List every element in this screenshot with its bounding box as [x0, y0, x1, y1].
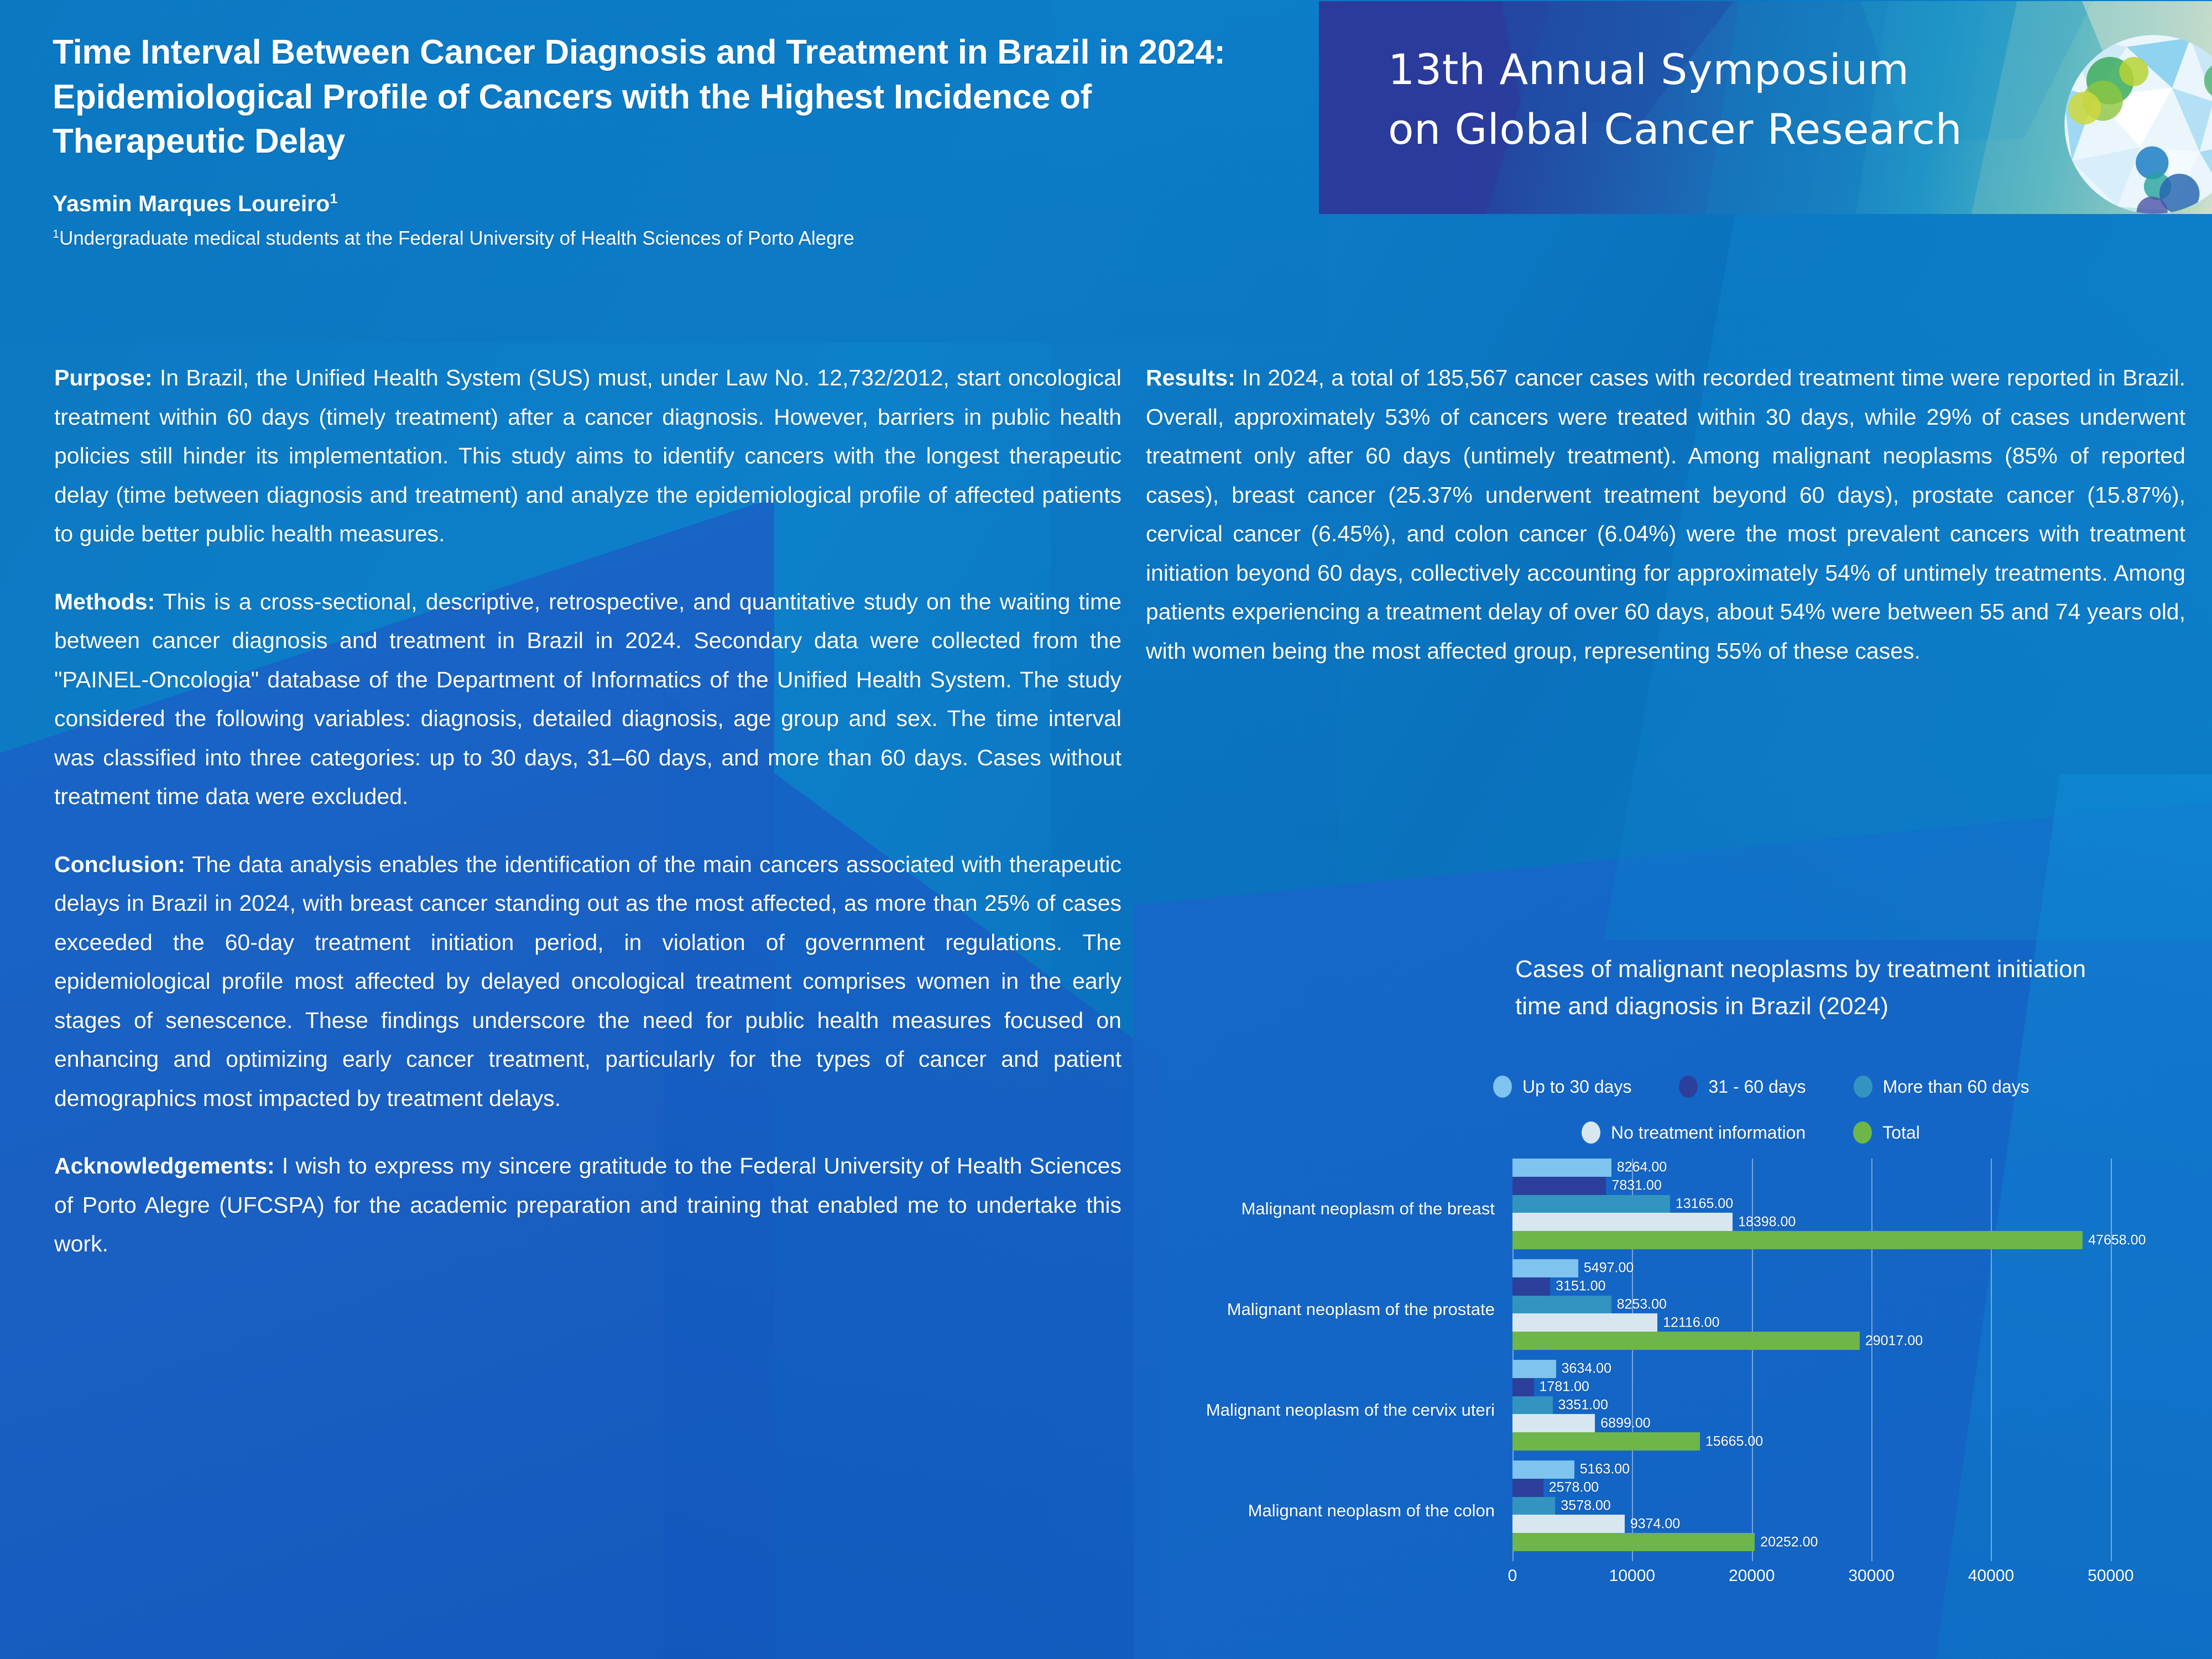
x-axis-tick-label: 0 [1508, 1567, 1517, 1585]
chart-bar[interactable] [1512, 1177, 1606, 1195]
chart-axes: 8264.007831.0013165.0018398.0047658.0054… [1512, 1159, 2171, 1561]
chart-bar-row: 15665.00 [1512, 1432, 2171, 1451]
chart-bar-row: 8253.00 [1512, 1296, 2171, 1314]
chart-category-label: Malignant neoplasm of the cervix uteri [1206, 1400, 1495, 1420]
legend-label: 31 - 60 days [1708, 1077, 1806, 1097]
chart-bar-value-label: 8264.00 [1617, 1160, 1667, 1176]
x-axis-tick-label: 10000 [1609, 1567, 1655, 1585]
results-body: In 2024, a total of 185,567 cancer cases… [1146, 365, 2185, 664]
affiliation-superscript: 1 [53, 227, 59, 241]
title-block: Time Interval Between Cancer Diagnosis a… [53, 30, 1230, 249]
chart-bar[interactable] [1512, 1231, 2083, 1249]
left-column: Purpose: In Brazil, the Unified Health S… [54, 358, 1121, 1264]
chart-category-label: Malignant neoplasm of the breast [1241, 1199, 1495, 1219]
chart-figure: Cases of malignant neoplasms by treatmen… [1156, 940, 2190, 1642]
purpose-heading: Purpose: [54, 365, 153, 390]
chart-bar-value-label: 12116.00 [1663, 1314, 1719, 1331]
chart-bar-value-label: 6899.00 [1600, 1415, 1650, 1431]
conclusion-paragraph: Conclusion: The data analysis enables th… [54, 845, 1121, 1118]
results-heading: Results: [1146, 365, 1235, 390]
page-title: Time Interval Between Cancer Diagnosis a… [53, 30, 1230, 164]
author-label: Yasmin Marques Loureiro [53, 191, 330, 216]
legend-swatch-icon [1582, 1121, 1600, 1144]
x-axis-tick-label: 30000 [1848, 1567, 1894, 1585]
chart-bar[interactable] [1512, 1360, 1556, 1378]
chart-bar[interactable] [1512, 1533, 1755, 1551]
chart-bar-value-label: 2578.00 [1549, 1480, 1599, 1496]
x-axis-tick-label: 40000 [1968, 1567, 2014, 1585]
chart-bar[interactable] [1512, 1195, 1670, 1213]
chart-bar-value-label: 3151.00 [1556, 1279, 1605, 1295]
acknowledgements-heading: Acknowledgements: [54, 1153, 275, 1178]
legend-item-4[interactable]: Total [1853, 1121, 1920, 1144]
purpose-body: In Brazil, the Unified Health System (SU… [54, 365, 1121, 546]
chart-bar[interactable] [1512, 1332, 1860, 1350]
x-axis-tick-label: 50000 [2088, 1567, 2133, 1585]
chart-bar-value-label: 15665.00 [1705, 1433, 1763, 1449]
chart-bar-group: 3634.001781.003351.006899.0015665.00 [1512, 1360, 2171, 1460]
banner-title: 13th Annual Symposium on Global Cancer R… [1388, 40, 2035, 159]
chart-bar-group: 5163.002578.003578.009374.0020252.00 [1512, 1460, 2171, 1561]
chart-bar[interactable] [1512, 1296, 1611, 1314]
chart-plot-area: Malignant neoplasm of the breastMalignan… [1156, 1159, 2190, 1595]
legend-label: Total [1882, 1123, 1920, 1143]
chart-bar-row: 12116.00 [1512, 1313, 2171, 1332]
legend-label: Up to 30 days [1522, 1077, 1631, 1097]
chart-bar-value-label: 1781.00 [1540, 1379, 1589, 1395]
chart-bar-row: 29017.00 [1512, 1332, 2171, 1350]
acknowledgements-paragraph: Acknowledgements: I wish to express my s… [54, 1146, 1121, 1264]
chart-bar[interactable] [1512, 1396, 1553, 1415]
chart-bar-value-label: 3634.00 [1562, 1361, 1611, 1377]
purpose-paragraph: Purpose: In Brazil, the Unified Health S… [54, 358, 1121, 554]
chart-bar[interactable] [1512, 1414, 1595, 1432]
chart-bar[interactable] [1512, 1259, 1578, 1277]
chart-bar-row: 3578.00 [1512, 1497, 2171, 1515]
chart-legend-row-2: No treatment informationTotal [1582, 1121, 2057, 1144]
author-name: Yasmin Marques Loureiro1 [53, 191, 1230, 217]
results-paragraph: Results: In 2024, a total of 185,567 can… [1146, 358, 2185, 670]
methods-body: This is a cross-sectional, descriptive, … [54, 589, 1121, 810]
affiliation: 1Undergraduate medical students at the F… [53, 227, 1230, 250]
chart-bar-value-label: 13165.00 [1676, 1196, 1733, 1212]
legend-label: More than 60 days [1883, 1077, 2030, 1097]
chart-bar-row: 3634.00 [1512, 1360, 2171, 1378]
right-column: Results: In 2024, a total of 185,567 can… [1146, 358, 2185, 670]
chart-bar-group: 5497.003151.008253.0012116.0029017.00 [1512, 1259, 2171, 1360]
chart-bar-value-label: 18398.00 [1738, 1214, 1796, 1230]
chart-bar-row: 7831.00 [1512, 1177, 2171, 1195]
chart-category-labels: Malignant neoplasm of the breastMalignan… [1156, 1159, 1501, 1561]
chart-bar-row: 1781.00 [1512, 1378, 2171, 1396]
chart-bar[interactable] [1512, 1213, 1733, 1231]
legend-swatch-icon [1853, 1121, 1872, 1144]
chart-bar[interactable] [1512, 1378, 1534, 1396]
globe-icon [2063, 33, 2212, 214]
chart-bar-value-label: 3578.00 [1561, 1498, 1610, 1514]
chart-bar-row: 20252.00 [1512, 1533, 2171, 1551]
x-axis-tick-label: 20000 [1729, 1567, 1775, 1585]
chart-bar-row: 18398.00 [1512, 1213, 2171, 1231]
chart-bar-row: 3351.00 [1512, 1396, 2171, 1415]
legend-item-3[interactable]: No treatment information [1582, 1121, 1806, 1144]
chart-category-label: Malignant neoplasm of the prostate [1227, 1300, 1495, 1319]
chart-title: Cases of malignant neoplasms by treatmen… [1515, 951, 2124, 1025]
chart-bar[interactable] [1512, 1313, 1657, 1332]
chart-bar[interactable] [1512, 1159, 1611, 1177]
chart-bar-value-label: 5163.00 [1580, 1462, 1630, 1478]
chart-bar-row: 47658.00 [1512, 1231, 2171, 1249]
chart-bar[interactable] [1512, 1497, 1555, 1515]
author-superscript: 1 [330, 191, 337, 206]
chart-bar[interactable] [1512, 1515, 1625, 1533]
chart-bar[interactable] [1512, 1432, 1700, 1451]
chart-bar-row: 5497.00 [1512, 1259, 2171, 1277]
chart-bar[interactable] [1512, 1277, 1550, 1296]
chart-bar[interactable] [1512, 1460, 1574, 1479]
legend-item-1[interactable]: 31 - 60 days [1679, 1076, 1806, 1098]
chart-x-axis: 01000020000300004000050000 [1512, 1567, 2171, 1600]
chart-bar-row: 2578.00 [1512, 1479, 2171, 1497]
chart-bar-row: 3151.00 [1512, 1277, 2171, 1296]
banner-title-line1: 13th Annual Symposium [1388, 40, 2035, 100]
symposium-banner: 13th Annual Symposium on Global Cancer R… [1319, 1, 2212, 214]
chart-bar-row: 13165.00 [1512, 1195, 2171, 1213]
chart-bar-value-label: 29017.00 [1865, 1333, 1923, 1349]
legend-swatch-icon [1493, 1076, 1512, 1098]
chart-legend-row-1: Up to 30 days31 - 60 daysMore than 60 da… [1493, 1076, 2135, 1098]
chart-bar-row: 9374.00 [1512, 1515, 2171, 1533]
affiliation-label: Undergraduate medical students at the Fe… [59, 227, 854, 249]
chart-bar-value-label: 8253.00 [1617, 1296, 1667, 1312]
chart-bar-value-label: 9374.00 [1630, 1516, 1680, 1532]
conclusion-body: The data analysis enables the identifica… [54, 852, 1121, 1111]
chart-bar-group: 8264.007831.0013165.0018398.0047658.00 [1512, 1159, 2171, 1259]
chart-bar-value-label: 3351.00 [1558, 1397, 1608, 1413]
methods-heading: Methods: [54, 589, 155, 614]
chart-bar-value-label: 20252.00 [1760, 1534, 1818, 1550]
legend-swatch-icon [1679, 1076, 1698, 1098]
chart-bar-value-label: 5497.00 [1584, 1260, 1634, 1276]
conclusion-heading: Conclusion: [54, 852, 185, 877]
legend-label: No treatment information [1611, 1123, 1806, 1143]
methods-paragraph: Methods: This is a cross-sectional, desc… [54, 582, 1121, 816]
chart-category-label: Malignant neoplasm of the colon [1248, 1501, 1495, 1521]
chart-bar-row: 6899.00 [1512, 1414, 2171, 1432]
chart-bar-row: 8264.00 [1512, 1159, 2171, 1177]
legend-item-2[interactable]: More than 60 days [1854, 1076, 2030, 1098]
banner-title-line2: on Global Cancer Research [1388, 100, 2035, 159]
chart-bar-row: 5163.00 [1512, 1460, 2171, 1479]
chart-bar-value-label: 47658.00 [2088, 1232, 2146, 1248]
chart-bar[interactable] [1512, 1479, 1543, 1497]
chart-bar-value-label: 7831.00 [1611, 1178, 1661, 1194]
legend-item-0[interactable]: Up to 30 days [1493, 1076, 1631, 1098]
legend-swatch-icon [1854, 1076, 1872, 1098]
